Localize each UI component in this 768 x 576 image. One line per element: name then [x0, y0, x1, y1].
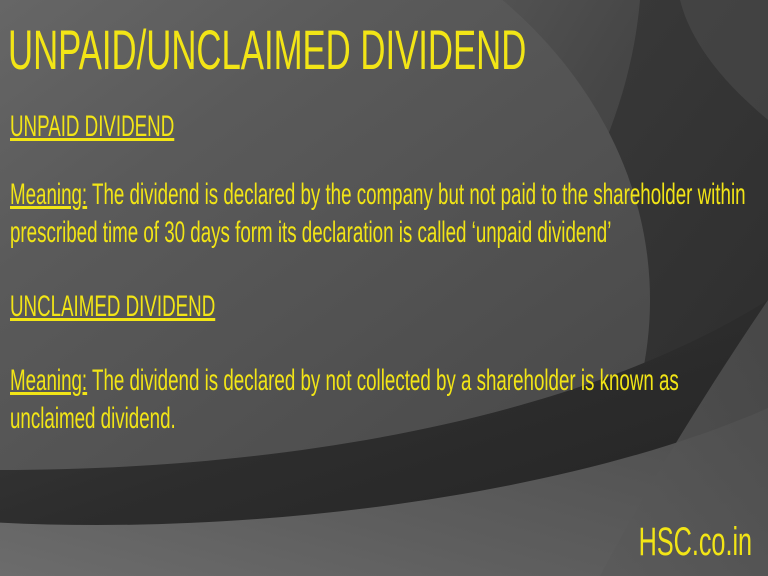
- section-heading-unclaimed-dividend: UNCLAIMED DIVIDEND: [10, 288, 766, 326]
- section-heading-unpaid-dividend-label: UNPAID DIVIDEND: [10, 110, 174, 143]
- meaning-text-unpaid: The dividend is declared by the company …: [10, 178, 746, 249]
- section-heading-unclaimed-dividend-label: UNCLAIMED DIVIDEND: [10, 290, 215, 323]
- section-body-unclaimed-dividend: Meaning: The dividend is declared by not…: [10, 362, 766, 438]
- site-watermark: HSC.co.in: [639, 522, 752, 562]
- page-title: UNPAID/UNCLAIMED DIVIDEND: [8, 22, 526, 78]
- section-heading-unpaid-dividend: UNPAID DIVIDEND: [10, 108, 766, 146]
- section-body-unpaid-dividend: Meaning: The dividend is declared by the…: [10, 176, 766, 252]
- presentation-slide: UNPAID/UNCLAIMED DIVIDEND UNPAID DIVIDEN…: [0, 0, 768, 576]
- meaning-label-unclaimed: Meaning:: [10, 364, 87, 397]
- meaning-label-unpaid: Meaning:: [10, 178, 87, 211]
- meaning-text-unclaimed: The dividend is declared by not collecte…: [10, 364, 679, 435]
